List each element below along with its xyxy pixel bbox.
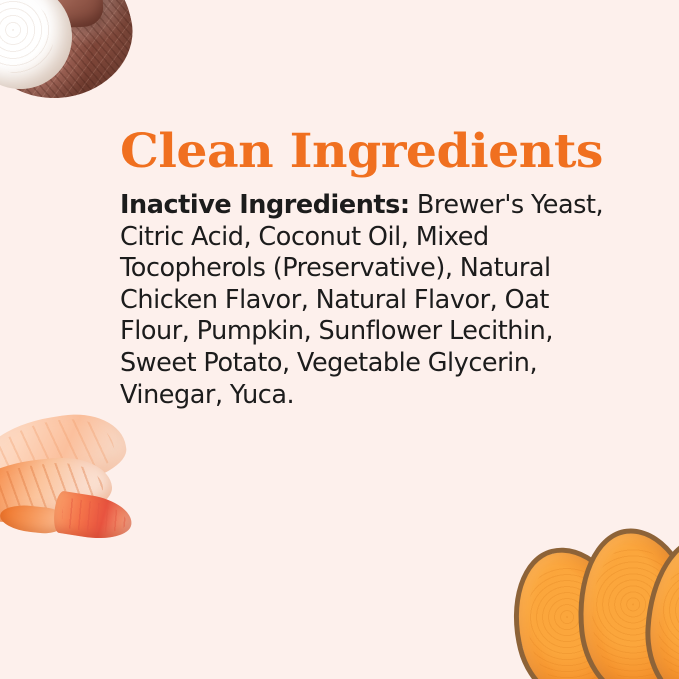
sweet-potato-slice bbox=[642, 533, 679, 679]
shrimp-legs bbox=[0, 503, 63, 535]
sweet-potato-slice bbox=[496, 534, 649, 679]
shrimp-image bbox=[0, 418, 142, 554]
shrimp-tail bbox=[51, 490, 135, 544]
coconut-husk-chunk bbox=[42, 0, 104, 28]
inactive-ingredients-list: Brewer's Yeast, Citric Acid, Coconut Oil… bbox=[120, 190, 603, 410]
page-title: Clean Ingredients bbox=[120, 126, 640, 178]
sweet-potato-slice bbox=[569, 522, 679, 679]
inactive-ingredients-paragraph: Inactive Ingredients: Brewer's Yeast, Ci… bbox=[120, 190, 620, 411]
inactive-ingredients-label: Inactive Ingredients: bbox=[120, 190, 410, 220]
ingredients-panel: Clean Ingredients Inactive Ingredients: … bbox=[0, 0, 679, 679]
sweet-potato-slices-image bbox=[512, 520, 679, 679]
shrimp-body-front bbox=[0, 452, 115, 529]
coconut-image bbox=[0, 0, 146, 114]
coconut-husk bbox=[0, 0, 146, 114]
coconut-flesh bbox=[0, 0, 83, 100]
content-block: Clean Ingredients Inactive Ingredients: … bbox=[120, 126, 620, 411]
shrimp-body-back bbox=[0, 407, 131, 500]
